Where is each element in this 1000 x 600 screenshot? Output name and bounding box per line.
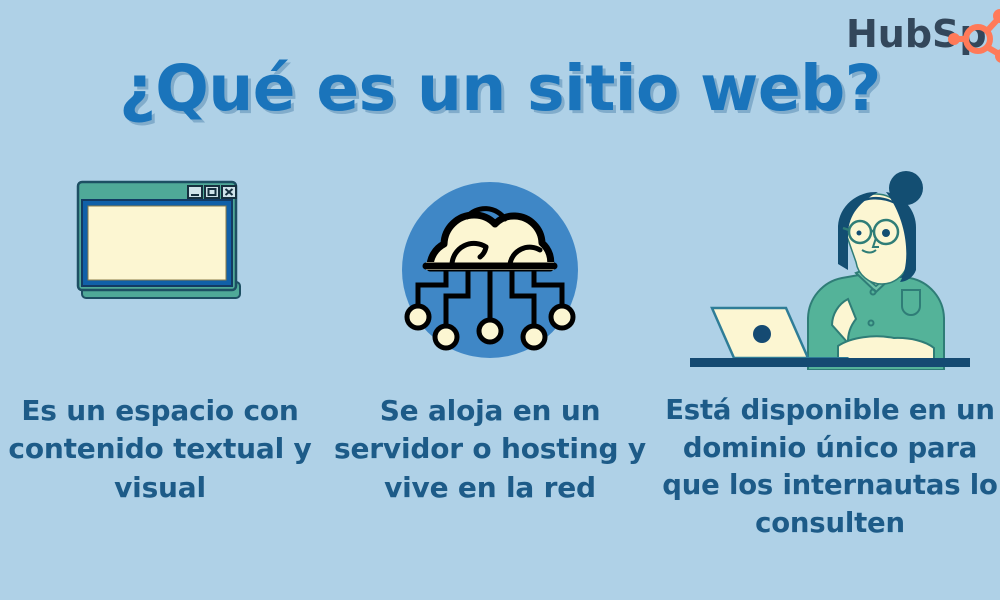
column-3: Está disponible en un dominio único para… — [660, 170, 1000, 543]
window-controls[interactable] — [188, 186, 236, 198]
cloud-hosting-icon — [330, 170, 650, 370]
browser-window-icon — [0, 170, 320, 370]
caption-2: Se aloja en un servidor o hosting y vive… — [330, 392, 650, 507]
person-laptop-illustration — [660, 170, 1000, 370]
minimize-icon — [191, 194, 199, 196]
infographic-canvas: HubSp ¿Qué es un sitio web? — [0, 0, 1000, 600]
maximize-button[interactable] — [205, 186, 219, 198]
page-title: ¿Qué es un sitio web? — [0, 52, 1000, 125]
caption-3: Está disponible en un dominio único para… — [660, 392, 1000, 543]
circuit-node-5 — [551, 306, 573, 328]
column-1: Es un espacio con contenido textual y vi… — [0, 170, 320, 507]
hands — [838, 336, 934, 360]
circuit-node-4 — [523, 326, 545, 348]
circuit-node-1 — [407, 306, 429, 328]
cloud-hosting-svg — [390, 170, 590, 370]
circuit-node-2 — [435, 326, 457, 348]
person-laptop-svg — [690, 170, 970, 370]
browser-window-svg — [70, 170, 250, 320]
window-content-area — [88, 206, 226, 280]
hair-bun — [889, 171, 923, 205]
column-2: Se aloja en un servidor o hosting y vive… — [330, 170, 650, 507]
eyebrow-dot — [857, 231, 862, 236]
circuit-node-3 — [479, 320, 501, 342]
laptop-logo-icon — [753, 325, 771, 343]
desk-surface — [690, 358, 970, 367]
caption-1: Es un espacio con contenido textual y vi… — [0, 392, 320, 507]
eye — [882, 229, 890, 237]
minimize-button[interactable] — [188, 186, 202, 198]
